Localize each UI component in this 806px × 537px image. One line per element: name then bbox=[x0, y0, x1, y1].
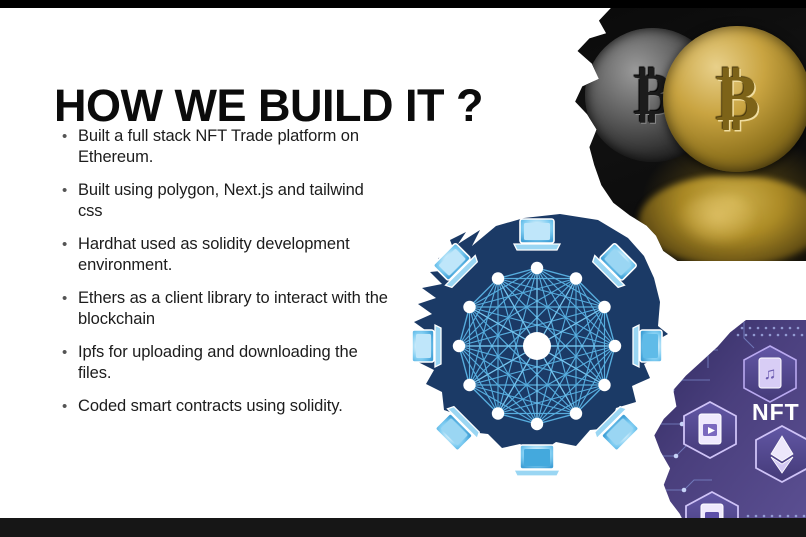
list-item: •Coded smart contracts using solidity. bbox=[62, 396, 392, 417]
bullet-marker-icon: • bbox=[62, 234, 78, 255]
bullet-marker-icon: • bbox=[62, 180, 78, 201]
list-item: •Hardhat used as solidity development en… bbox=[62, 234, 392, 276]
blockchain-network-illustration bbox=[392, 196, 682, 496]
gold-reflection-highlight bbox=[677, 195, 758, 246]
list-item-text: Hardhat used as solidity development env… bbox=[78, 234, 392, 276]
page-title: HOW WE BUILD IT ? bbox=[54, 80, 483, 132]
letterbox-bar-top bbox=[0, 0, 806, 8]
laptop-icon bbox=[412, 325, 441, 367]
list-item-text: Ipfs for uploading and downloading the f… bbox=[78, 342, 392, 384]
slide-canvas: ₿ ₿ bbox=[0, 0, 806, 537]
list-item-text: Built using polygon, Next.js and tailwin… bbox=[78, 180, 392, 222]
bullet-marker-icon: • bbox=[62, 126, 78, 147]
center-hub-node bbox=[523, 332, 551, 360]
network-svg bbox=[392, 196, 682, 496]
gold-bitcoin-coin: ₿ bbox=[663, 26, 806, 173]
bullet-list: •Built a full stack NFT Trade platform o… bbox=[62, 126, 392, 429]
letterbox-bar-bottom bbox=[0, 518, 806, 537]
bullet-marker-icon: • bbox=[62, 342, 78, 363]
laptop-icon bbox=[514, 445, 560, 476]
slide-content-area: ₿ ₿ bbox=[0, 8, 806, 518]
list-item-text: Ethers as a client library to interact w… bbox=[78, 288, 392, 330]
list-item: •Built using polygon, Next.js and tailwi… bbox=[62, 180, 392, 222]
laptop-icon bbox=[633, 325, 662, 367]
list-item: •Built a full stack NFT Trade platform o… bbox=[62, 126, 392, 168]
laptop-icon bbox=[514, 219, 560, 250]
nft-wordmark: NFT bbox=[752, 399, 800, 425]
list-item: •Ipfs for uploading and downloading the … bbox=[62, 342, 392, 384]
list-item-text: Coded smart contracts using solidity. bbox=[78, 396, 392, 417]
bullet-marker-icon: • bbox=[62, 288, 78, 309]
music-note-glyph: ♫ bbox=[764, 364, 777, 383]
list-item-text: Built a full stack NFT Trade platform on… bbox=[78, 126, 392, 168]
gold-coin-face: ₿ bbox=[682, 45, 791, 154]
bitcoin-symbol-icon: ₿ bbox=[715, 66, 758, 132]
list-item: •Ethers as a client library to interact … bbox=[62, 288, 392, 330]
bullet-marker-icon: • bbox=[62, 396, 78, 417]
